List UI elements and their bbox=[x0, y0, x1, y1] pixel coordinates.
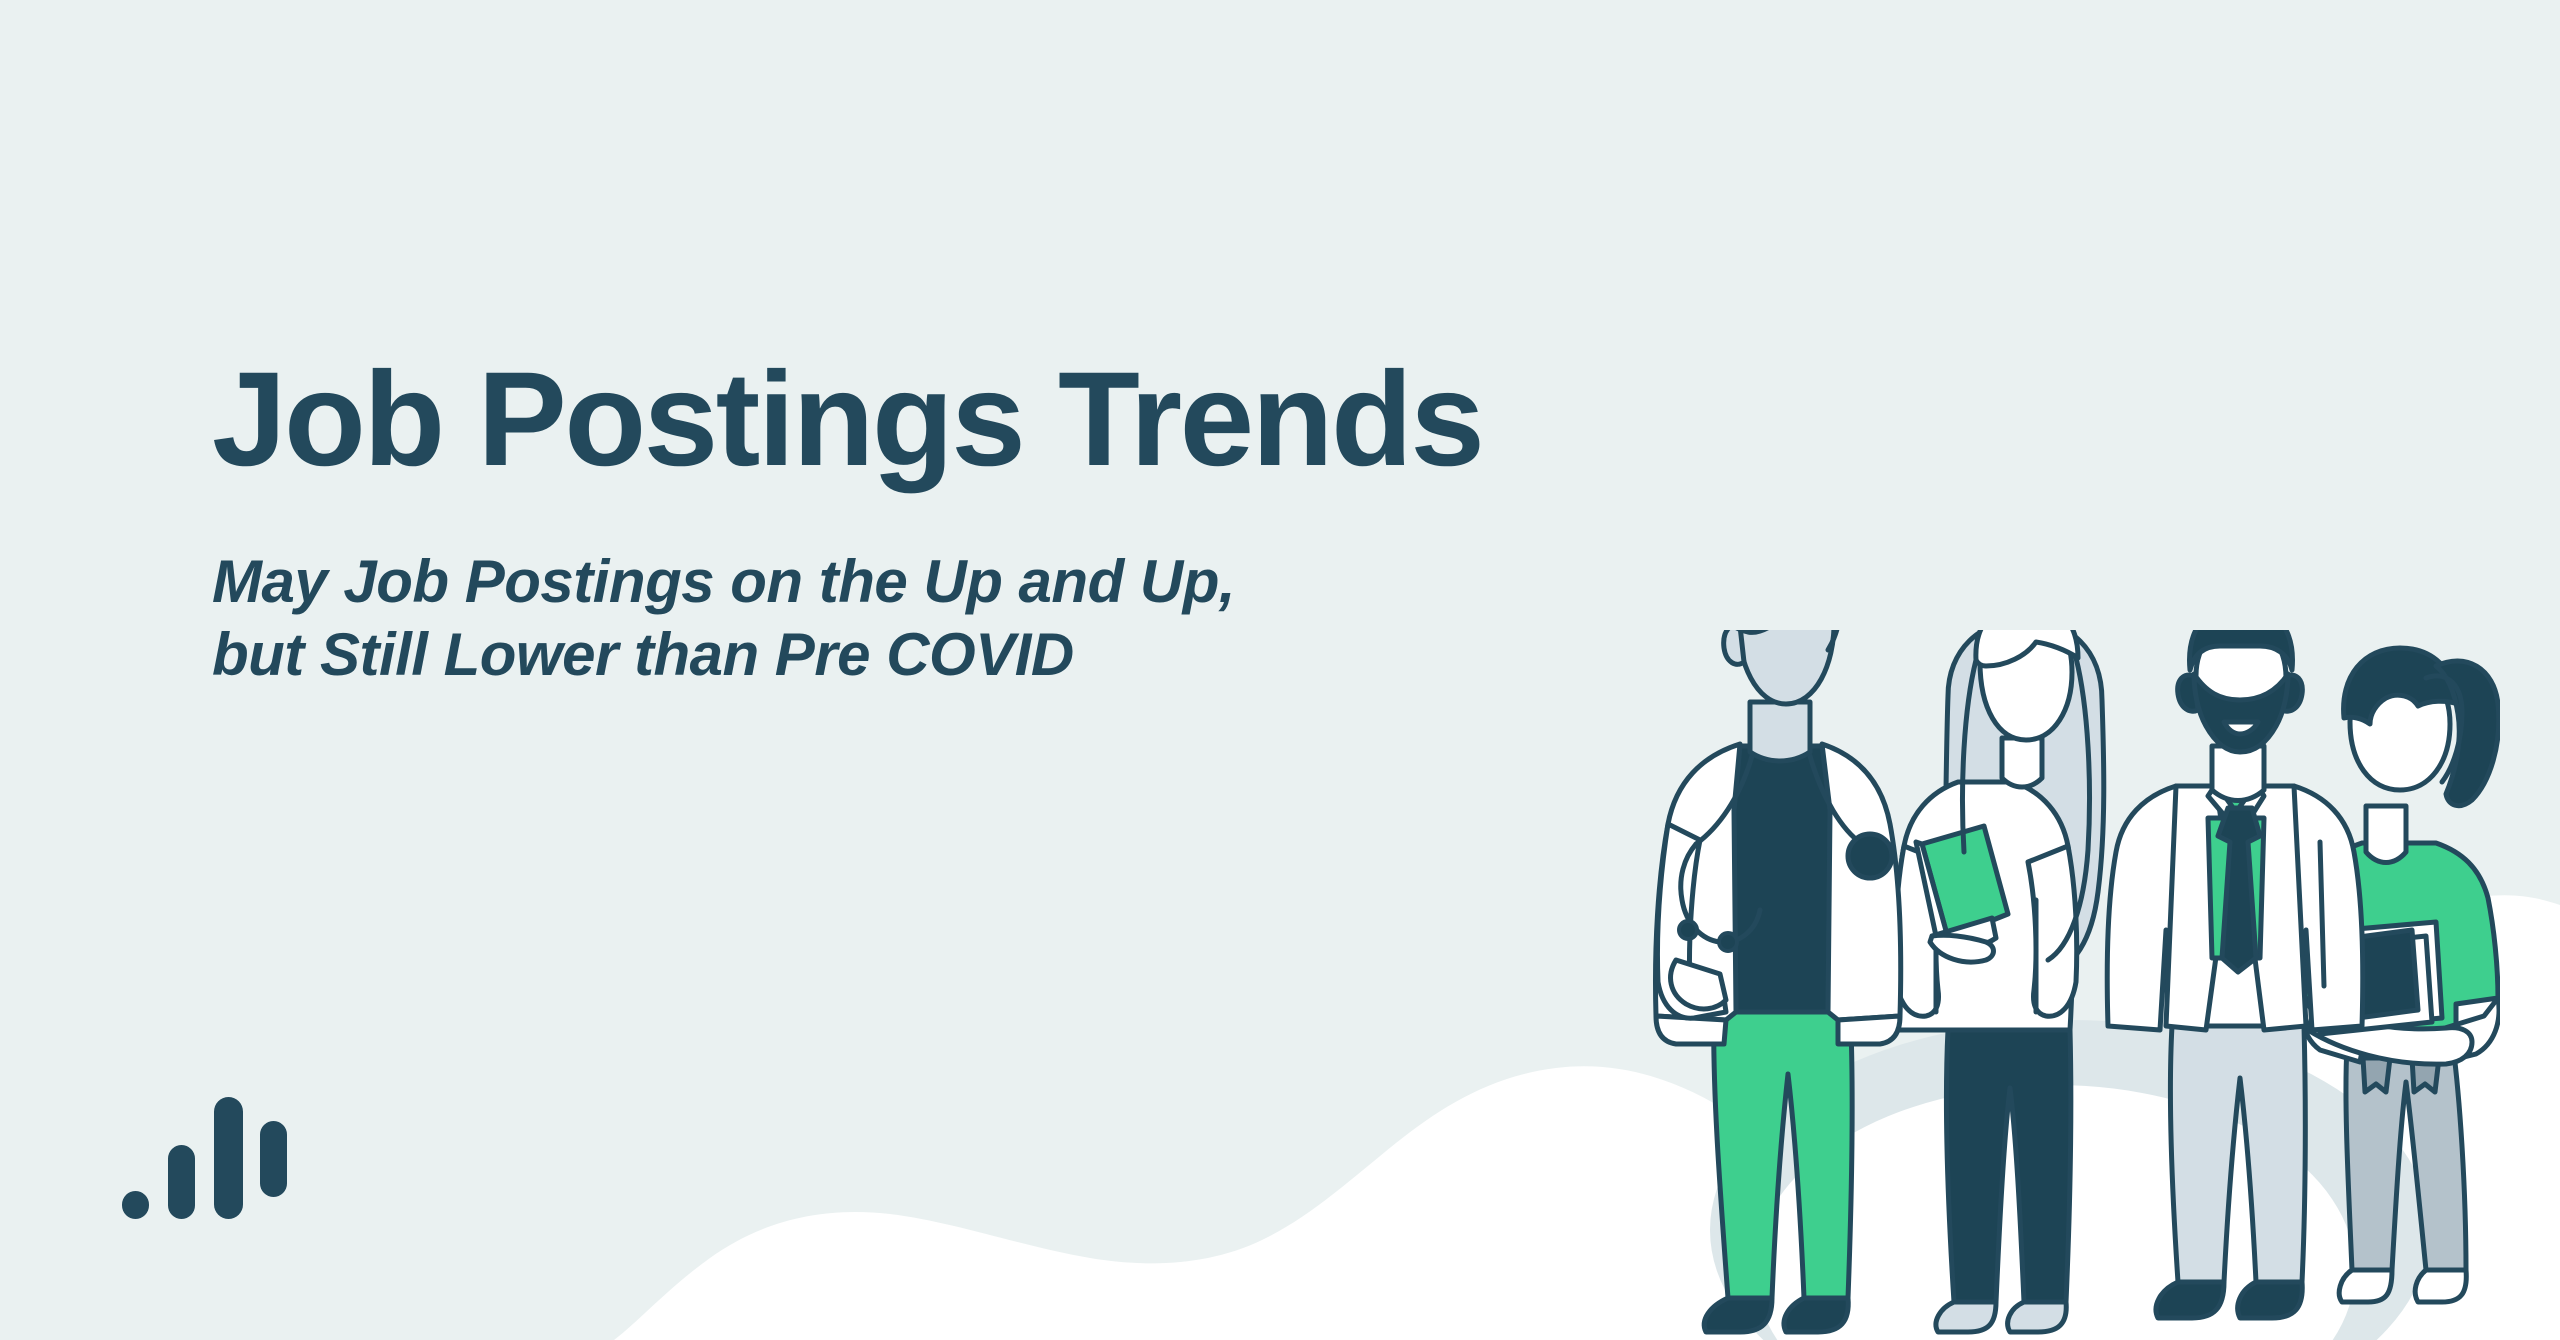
hero-text-block: Job Postings Trends May Job Postings on … bbox=[212, 352, 1772, 691]
healthcare-team-illustration bbox=[1600, 630, 2500, 1340]
logo-bar-1 bbox=[122, 1191, 149, 1219]
page-title: Job Postings Trends bbox=[212, 352, 1772, 489]
hero-banner: Job Postings Trends May Job Postings on … bbox=[0, 0, 2560, 1340]
page-subtitle: May Job Postings on the Up and Up, but S… bbox=[212, 545, 1772, 691]
logo-bar-3 bbox=[214, 1097, 243, 1219]
logo-bar-4 bbox=[260, 1121, 287, 1197]
subtitle-line-1: May Job Postings on the Up and Up, bbox=[212, 545, 1772, 618]
logo-bar-2 bbox=[168, 1145, 195, 1219]
subtitle-line-2: but Still Lower than Pre COVID bbox=[212, 618, 1772, 691]
bar-chart-logo bbox=[122, 1097, 287, 1219]
